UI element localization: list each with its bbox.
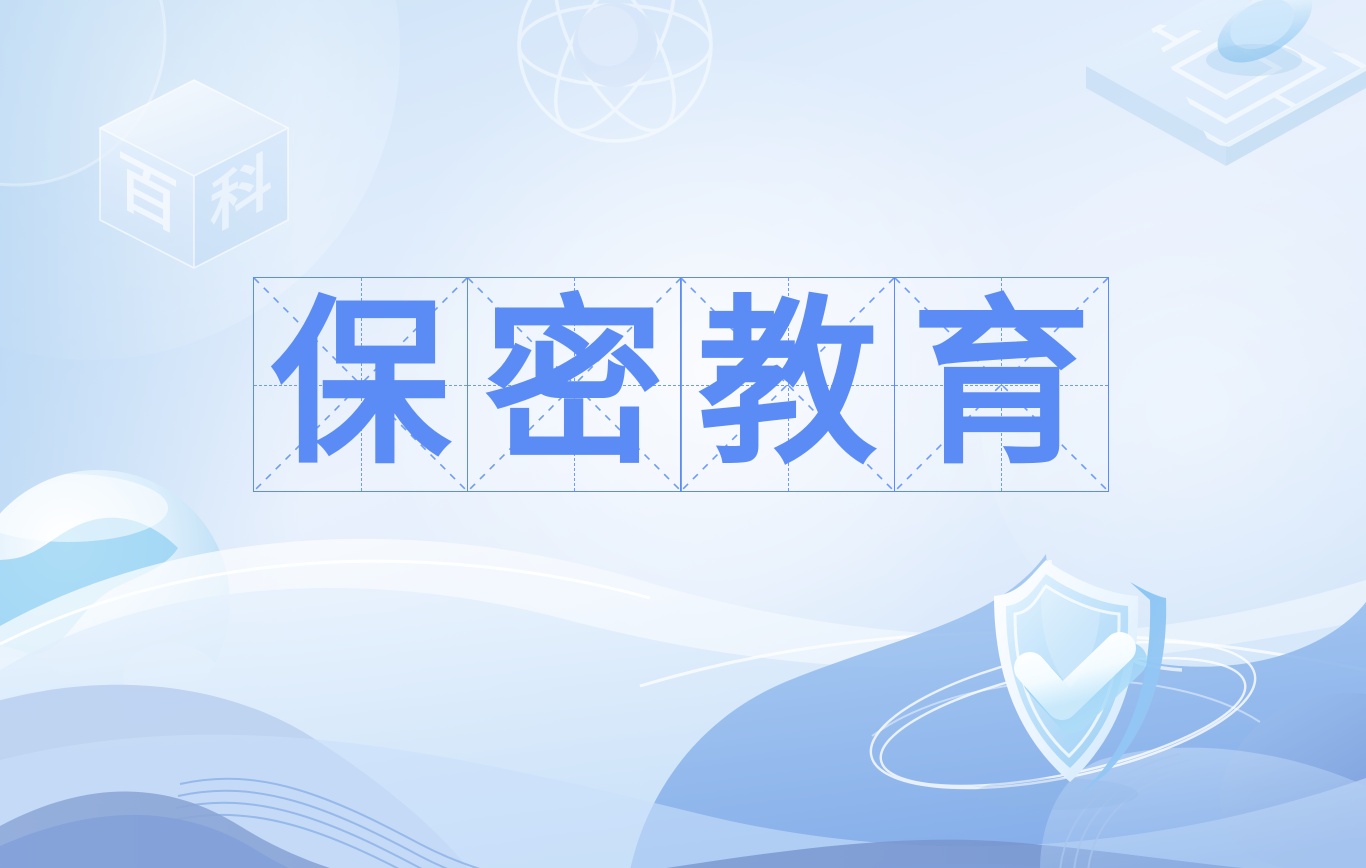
title-char-2: 密 — [484, 295, 664, 475]
grid-cell-2: 密 — [467, 277, 682, 492]
title-char-4: 育 — [911, 295, 1091, 475]
title-char-1: 保 — [270, 295, 450, 475]
orbit-ring-decoration — [848, 610, 1278, 820]
grid-cell-4: 育 — [894, 277, 1109, 492]
svg-text:百: 百 — [117, 142, 179, 247]
wave-decoration — [0, 430, 1366, 868]
shield-check-icon — [930, 548, 1198, 816]
grid-cell-1: 保 — [253, 277, 468, 492]
cube-icon: 百 科 — [78, 72, 310, 277]
grid-cell-3: 教 — [680, 277, 895, 492]
svg-text:科: 科 — [210, 142, 272, 247]
globe-icon — [0, 452, 248, 752]
maze-icon — [1076, 0, 1366, 228]
decorative-ring-top-left — [0, 0, 180, 200]
poster-canvas: 百 科 — [0, 0, 1366, 868]
title-char-3: 教 — [697, 295, 877, 475]
atom-icon — [500, 0, 730, 150]
title-character-grid: 保 密 教 育 — [253, 277, 1113, 492]
